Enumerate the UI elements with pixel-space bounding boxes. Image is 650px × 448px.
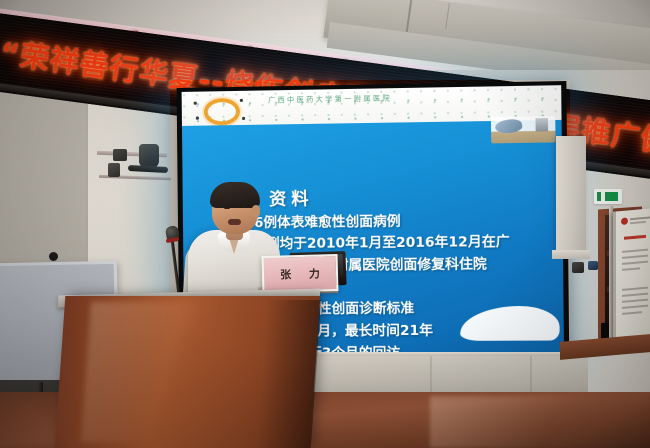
podium-shade <box>257 300 321 448</box>
slide-corner-illustration <box>491 116 556 143</box>
wall-column-cap <box>552 250 590 259</box>
banner-text-rule <box>622 305 648 309</box>
whiteboard-knob-icon <box>49 252 58 261</box>
logo-accent-dot-icon <box>240 99 243 102</box>
logo-accent-dot-icon <box>194 102 197 105</box>
banner-text-rule <box>622 287 648 291</box>
illustration-shape-icon <box>536 118 549 131</box>
logo-accent-dot-icon <box>196 117 199 120</box>
equipment-junction-box <box>108 163 120 177</box>
speaker-ear <box>252 205 260 217</box>
speaker-nameplate: 张 力 <box>262 254 339 293</box>
banner-text-rule <box>622 255 648 259</box>
wall-roll-up-banner <box>613 208 650 343</box>
banner-text-rule <box>622 249 648 253</box>
slide-decorative-wave <box>460 306 560 341</box>
speaker-nameplate-text: 张 力 <box>273 265 327 282</box>
wall-device-icon <box>572 262 584 273</box>
wall-speaker-icon <box>139 144 159 168</box>
banner-text-rule <box>622 267 640 270</box>
exit-sign <box>594 189 622 204</box>
banner-text-rule <box>622 311 642 314</box>
speaker-hair <box>210 182 260 208</box>
banner-header-rule <box>630 221 646 224</box>
wall-camera-icon <box>113 149 127 161</box>
illustration-shape-icon <box>494 118 523 135</box>
banner-header-rule <box>630 216 650 220</box>
banner-title-rule <box>624 235 646 240</box>
banner-text-rule <box>622 299 648 303</box>
conference-hall-photo: “荣祥善行华夏--烧伤创疡再生医疗技术基层推广健康行”（广西南宁站） 广西中医药… <box>0 0 650 448</box>
banner-logo-icon <box>621 217 628 225</box>
speaker-eye <box>224 206 230 209</box>
wall-sensor-icon <box>588 261 598 270</box>
speaker-eye <box>241 205 247 208</box>
floor-reflection <box>430 396 650 448</box>
banner-text-rule <box>622 293 648 297</box>
speaker-mouth <box>228 219 241 225</box>
podium-highlight <box>81 302 211 442</box>
left-wall-recess <box>0 88 88 288</box>
banner-text-rule <box>622 261 648 265</box>
exit-icon-figure <box>605 192 618 201</box>
exit-icon-bar <box>597 192 601 201</box>
wall-column <box>556 136 586 256</box>
logo-accent-dot-icon <box>242 117 245 120</box>
